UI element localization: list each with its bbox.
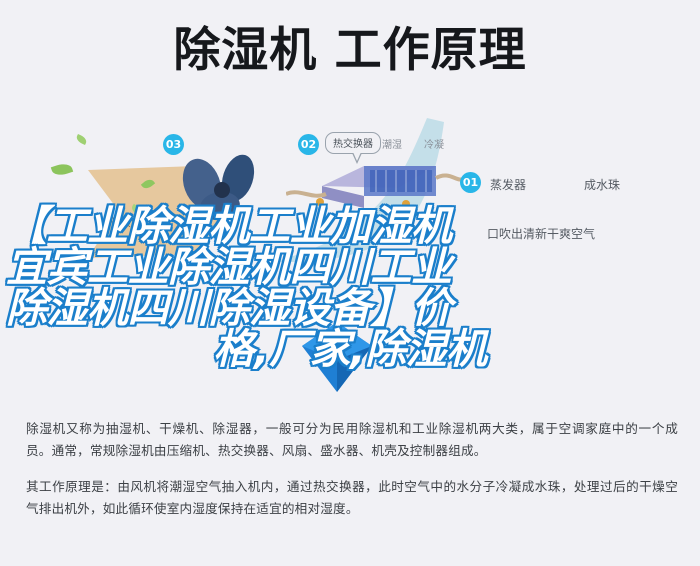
page-root: 除湿机 工作原理 干燥空气 <box>0 0 700 566</box>
dehumidifier-diagram: 干燥空气 <box>0 112 700 402</box>
heat-exchanger-bubble-label: 热交换器 <box>333 139 373 150</box>
fan-icon <box>180 150 276 224</box>
humid-label: 潮湿 <box>382 136 402 151</box>
heat-exchanger-illustration <box>286 142 466 228</box>
article-body: 除湿机又称为抽湿机、干燥机、除湿器，一般可分为民用除湿机和工业除湿机两大类，属于… <box>26 418 678 520</box>
fan-illustration <box>180 150 276 224</box>
heat-exchanger-bubble: 热交换器 <box>325 132 381 154</box>
condense-label: 冷凝 <box>424 136 444 151</box>
callout-badge-01: 01 <box>460 172 481 193</box>
leaf-icon <box>51 161 73 178</box>
callout-badge-03: 03 <box>163 134 184 155</box>
page-title-text: 除湿机 工作原理 <box>173 26 526 77</box>
evaporator-label: 蒸发器 <box>490 176 526 193</box>
bubble-tail-icon <box>352 153 362 164</box>
dry-air-label: 干燥空气 <box>108 214 154 230</box>
droplets-label: 成水珠 <box>584 176 620 193</box>
diamond-decoration <box>300 320 374 394</box>
page-title: 除湿机 工作原理 <box>0 26 700 77</box>
heat-exchanger-icon <box>286 142 466 228</box>
leaf-icon <box>75 134 88 145</box>
callout-badge-02: 02 <box>298 134 319 155</box>
paragraph-1: 除湿机又称为抽湿机、干燥机、除湿器，一般可分为民用除湿机和工业除湿机两大类，属于… <box>26 418 678 462</box>
diamond-icon <box>300 320 374 394</box>
paragraph-2: 其工作原理是：由风机将潮湿空气抽入机内，通过热交换器，此时空气中的水分子冷凝成水… <box>26 476 678 520</box>
outlet-label: 口吹出清新干爽空气 <box>487 225 595 242</box>
